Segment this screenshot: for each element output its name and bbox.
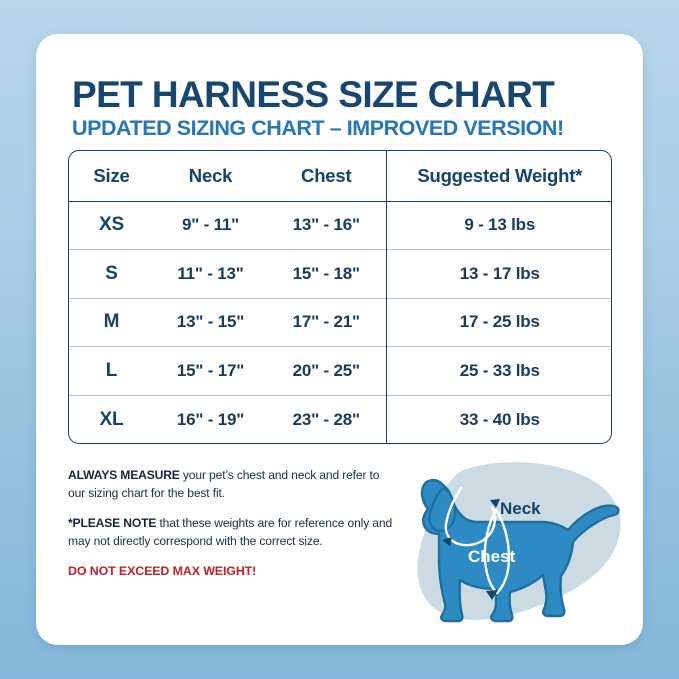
cell-size: XL <box>69 395 154 444</box>
table-row: L 15" - 17" 20" - 25" 25 - 33 lbs <box>69 347 612 396</box>
page-title: PET HARNESS SIZE CHART <box>72 74 554 116</box>
content-card: PET HARNESS SIZE CHART UPDATED SIZING CH… <box>36 34 643 645</box>
note-please-note-lead: *PLEASE NOTE <box>68 516 156 530</box>
table-row: XL 16" - 19" 23" - 28" 33 - 40 lbs <box>69 395 612 444</box>
cell-neck: 16" - 19" <box>154 395 267 444</box>
column-header-chest: Chest <box>267 151 386 201</box>
cell-weight: 33 - 40 lbs <box>386 395 612 444</box>
cell-size: XS <box>69 201 154 250</box>
cell-weight: 9 - 13 lbs <box>386 201 612 250</box>
table-body: XS 9" - 11" 13" - 16" 9 - 13 lbs S 11" -… <box>69 201 612 444</box>
column-header-neck: Neck <box>154 151 267 201</box>
size-chart-page: PET HARNESS SIZE CHART UPDATED SIZING CH… <box>0 0 679 679</box>
cell-size: L <box>69 347 154 396</box>
cell-weight: 17 - 25 lbs <box>386 298 612 347</box>
size-table: Size Neck Chest Suggested Weight* XS 9" … <box>69 151 612 444</box>
page-subtitle: UPDATED SIZING CHART – IMPROVED VERSION! <box>72 116 564 141</box>
column-header-suggested-weight: Suggested Weight* <box>386 151 612 201</box>
note-measure-lead: ALWAYS MEASURE <box>68 468 180 482</box>
table-header-row: Size Neck Chest Suggested Weight* <box>69 151 612 201</box>
cell-neck: 15" - 17" <box>154 347 267 396</box>
table-row: M 13" - 15" 17" - 21" 17 - 25 lbs <box>69 298 612 347</box>
table-row: XS 9" - 11" 13" - 16" 9 - 13 lbs <box>69 201 612 250</box>
cell-size: S <box>69 250 154 299</box>
column-header-size: Size <box>69 151 154 201</box>
cell-chest: 13" - 16" <box>267 201 386 250</box>
note-measure: ALWAYS MEASURE your pet’s chest and neck… <box>68 467 398 502</box>
table-row: S 11" - 13" 15" - 18" 13 - 17 lbs <box>69 250 612 299</box>
cell-chest: 20" - 25" <box>267 347 386 396</box>
cell-chest: 23" - 28" <box>267 395 386 444</box>
cell-size: M <box>69 298 154 347</box>
size-table-container: Size Neck Chest Suggested Weight* XS 9" … <box>68 150 612 444</box>
table-header: Size Neck Chest Suggested Weight* <box>69 151 612 201</box>
note-please-note: *PLEASE NOTE that these weights are for … <box>68 515 398 550</box>
chest-label: Chest <box>468 547 516 566</box>
notes-block: ALWAYS MEASURE your pet’s chest and neck… <box>68 467 398 581</box>
cell-neck: 13" - 15" <box>154 298 267 347</box>
cell-weight: 25 - 33 lbs <box>386 347 612 396</box>
dog-measurement-illustration: Neck Chest <box>406 452 628 632</box>
cell-neck: 11" - 13" <box>154 250 267 299</box>
cell-chest: 15" - 18" <box>267 250 386 299</box>
neck-label: Neck <box>500 499 541 518</box>
cell-chest: 17" - 21" <box>267 298 386 347</box>
note-max-weight-warning: DO NOT EXCEED MAX WEIGHT! <box>68 563 398 581</box>
cell-weight: 13 - 17 lbs <box>386 250 612 299</box>
cell-neck: 9" - 11" <box>154 201 267 250</box>
